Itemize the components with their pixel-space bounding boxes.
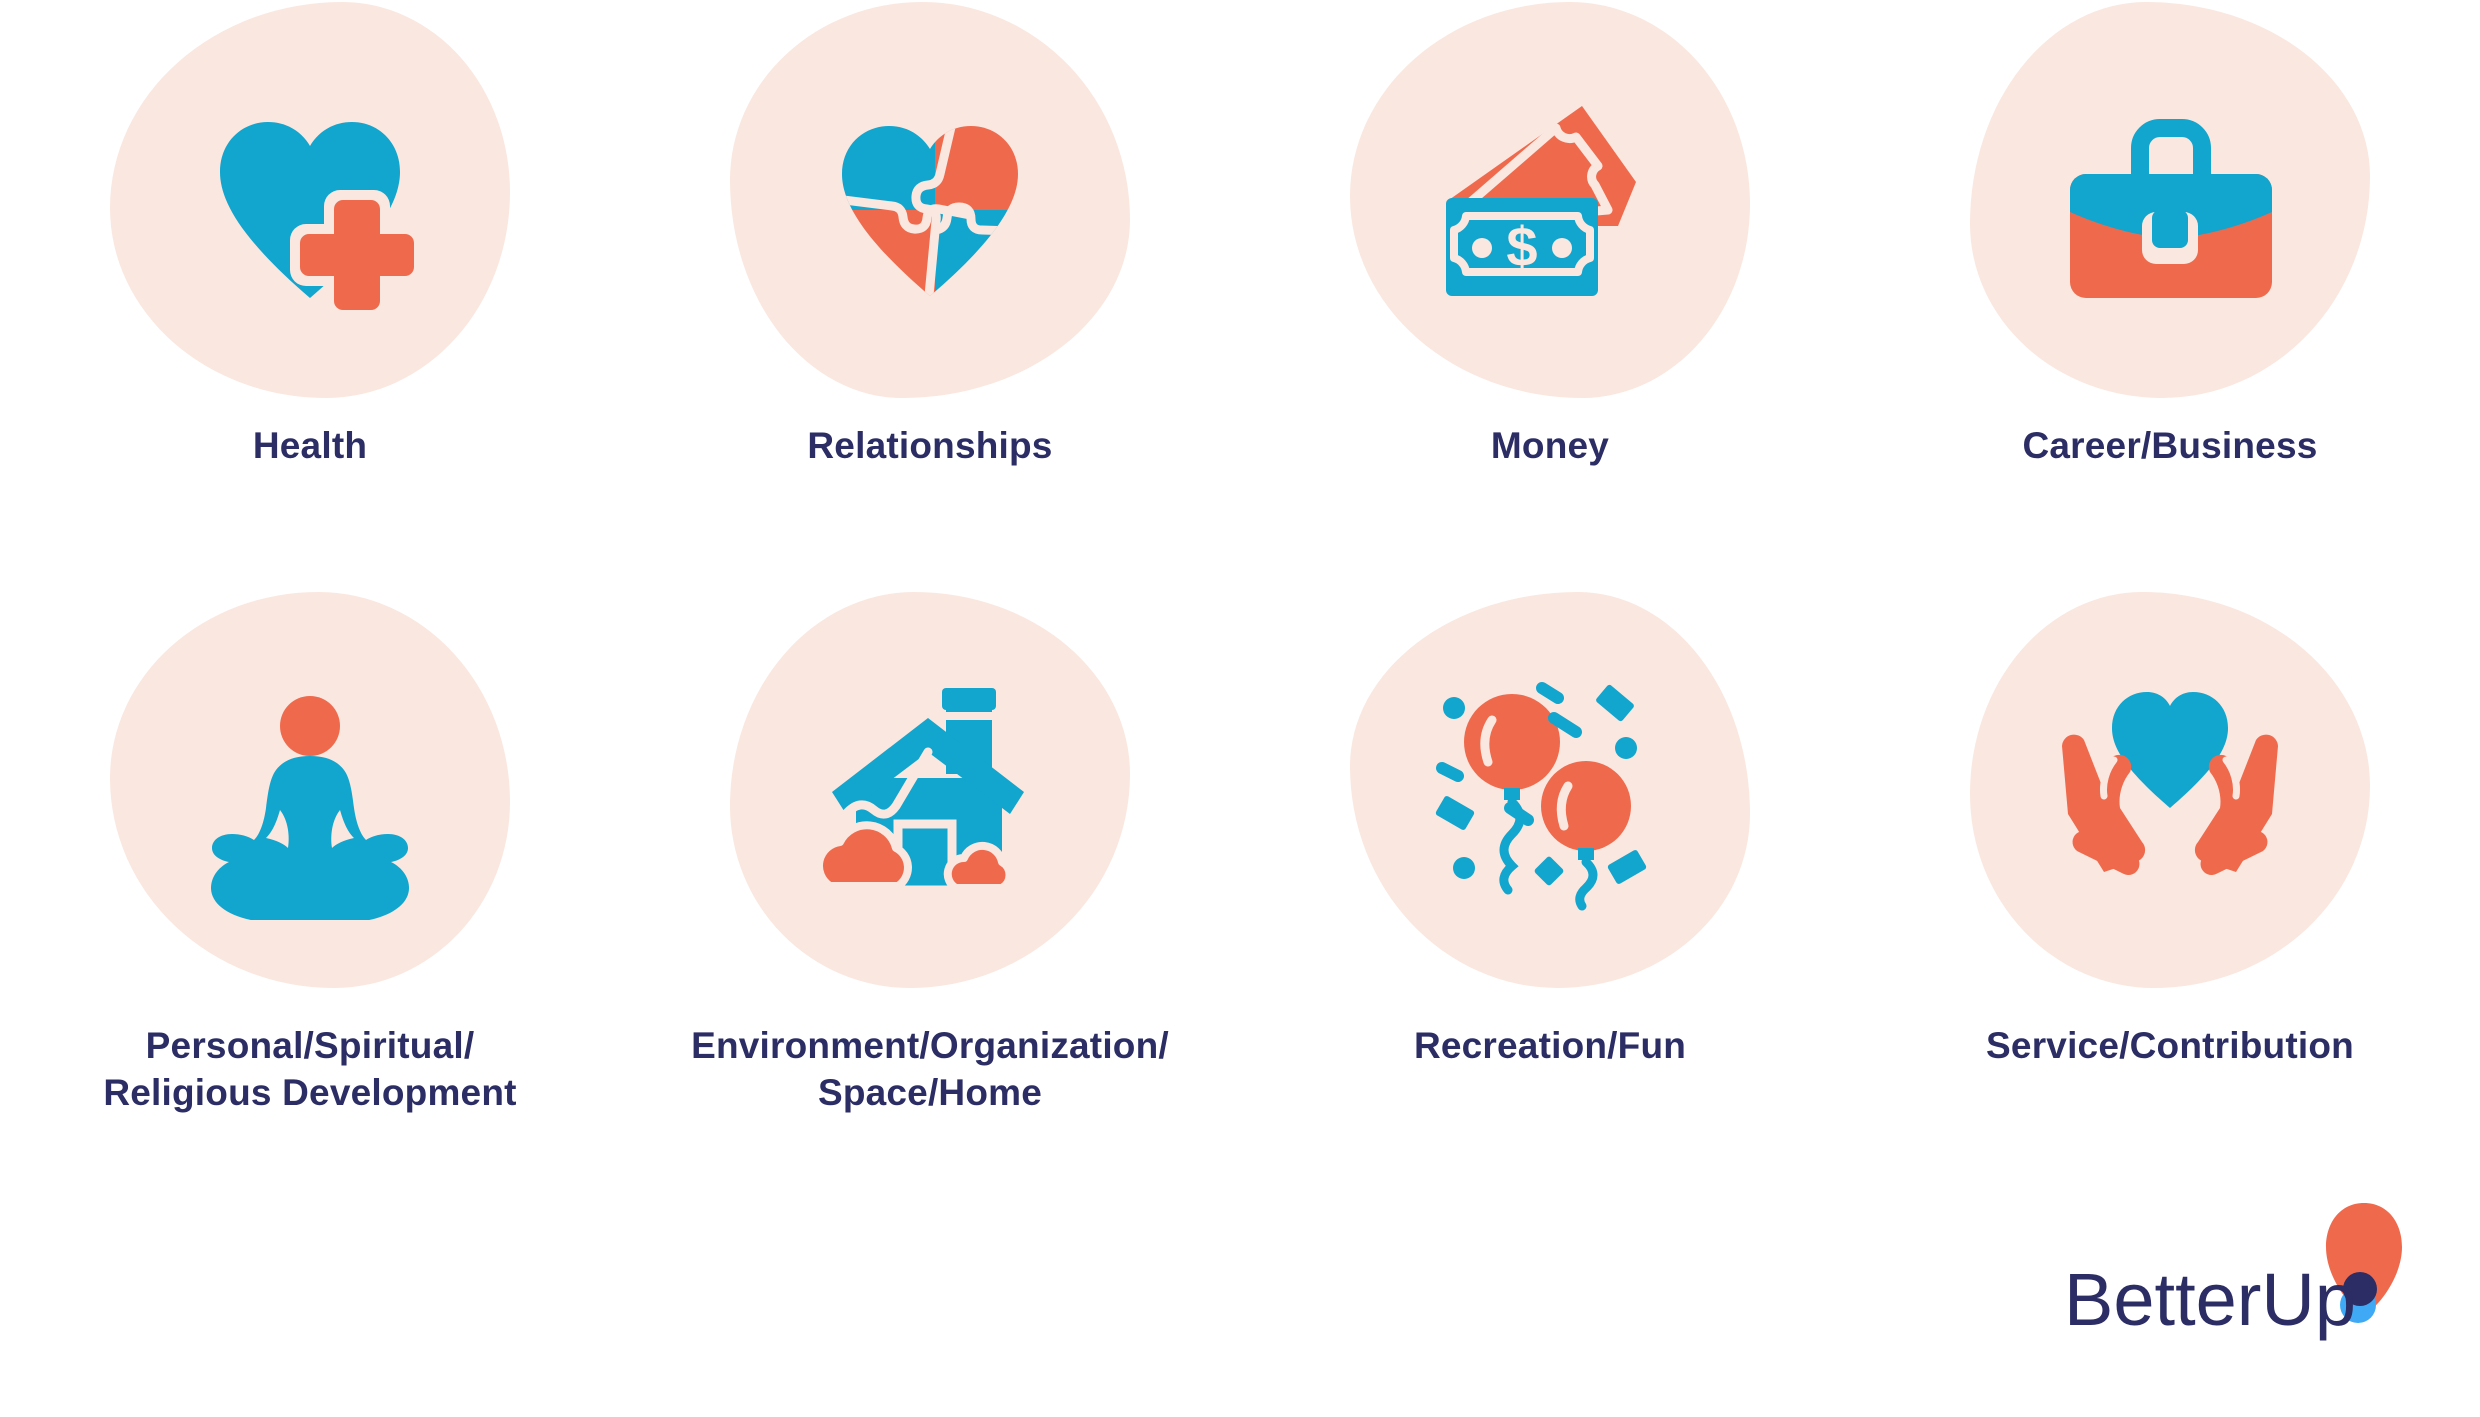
money-bills-icon: $ xyxy=(1420,70,1680,330)
wheel-of-life-categories-board: Health xyxy=(0,0,2480,1417)
icon-blob-wrapper xyxy=(720,590,1140,990)
category-label: Career/Business xyxy=(2022,422,2317,469)
icon-blob-wrapper xyxy=(100,0,520,400)
category-label: Relationships xyxy=(807,422,1052,469)
betterup-wordmark: BetterUp xyxy=(2064,1258,2356,1341)
category-label: Environment/Organization/Space/Home xyxy=(691,1022,1169,1117)
category-card-personal-spiritual[interactable]: Personal/Spiritual/Religious Development xyxy=(0,590,620,1180)
icon-blob-wrapper xyxy=(1960,0,2380,400)
category-label-text: Personal/Spiritual/Religious Development xyxy=(103,1025,516,1113)
category-label-text: Environment/Organization/Space/Home xyxy=(691,1025,1169,1113)
icon-blob-wrapper xyxy=(1960,590,2380,990)
balloons-confetti-icon xyxy=(1420,660,1680,920)
category-label: Personal/Spiritual/Religious Development xyxy=(103,1022,516,1117)
category-label: Health xyxy=(253,422,367,469)
heart-plus-icon xyxy=(180,70,440,330)
briefcase-icon xyxy=(2040,70,2300,330)
category-label: Service/Contribution xyxy=(1986,1022,2354,1069)
category-card-career[interactable]: Career/Business xyxy=(1860,0,2480,590)
category-card-health[interactable]: Health xyxy=(0,0,620,590)
category-card-recreation[interactable]: Recreation/Fun xyxy=(1240,590,1860,1180)
meditation-icon xyxy=(180,660,440,920)
betterup-logo-svg: BetterUp xyxy=(2058,1185,2408,1365)
category-grid: Health xyxy=(0,0,2480,1240)
category-label: Recreation/Fun xyxy=(1414,1022,1686,1069)
svg-text:$: $ xyxy=(1506,215,1537,278)
category-card-relationships[interactable]: Relationships xyxy=(620,0,1240,590)
icon-blob-wrapper xyxy=(720,0,1140,400)
icon-blob-wrapper xyxy=(1340,590,1760,990)
icon-blob-wrapper: $ xyxy=(1340,0,1760,400)
category-card-environment[interactable]: Environment/Organization/Space/Home xyxy=(620,590,1240,1180)
betterup-logo[interactable]: BetterUp xyxy=(2058,1185,2408,1365)
hands-heart-icon xyxy=(2040,660,2300,920)
house-bushes-icon xyxy=(800,660,1060,920)
icon-blob-wrapper xyxy=(100,590,520,990)
category-card-service[interactable]: Service/Contribution xyxy=(1860,590,2480,1180)
category-card-money[interactable]: $ Money xyxy=(1240,0,1860,590)
category-label: Money xyxy=(1491,422,1609,469)
puzzle-heart-icon xyxy=(800,70,1060,330)
